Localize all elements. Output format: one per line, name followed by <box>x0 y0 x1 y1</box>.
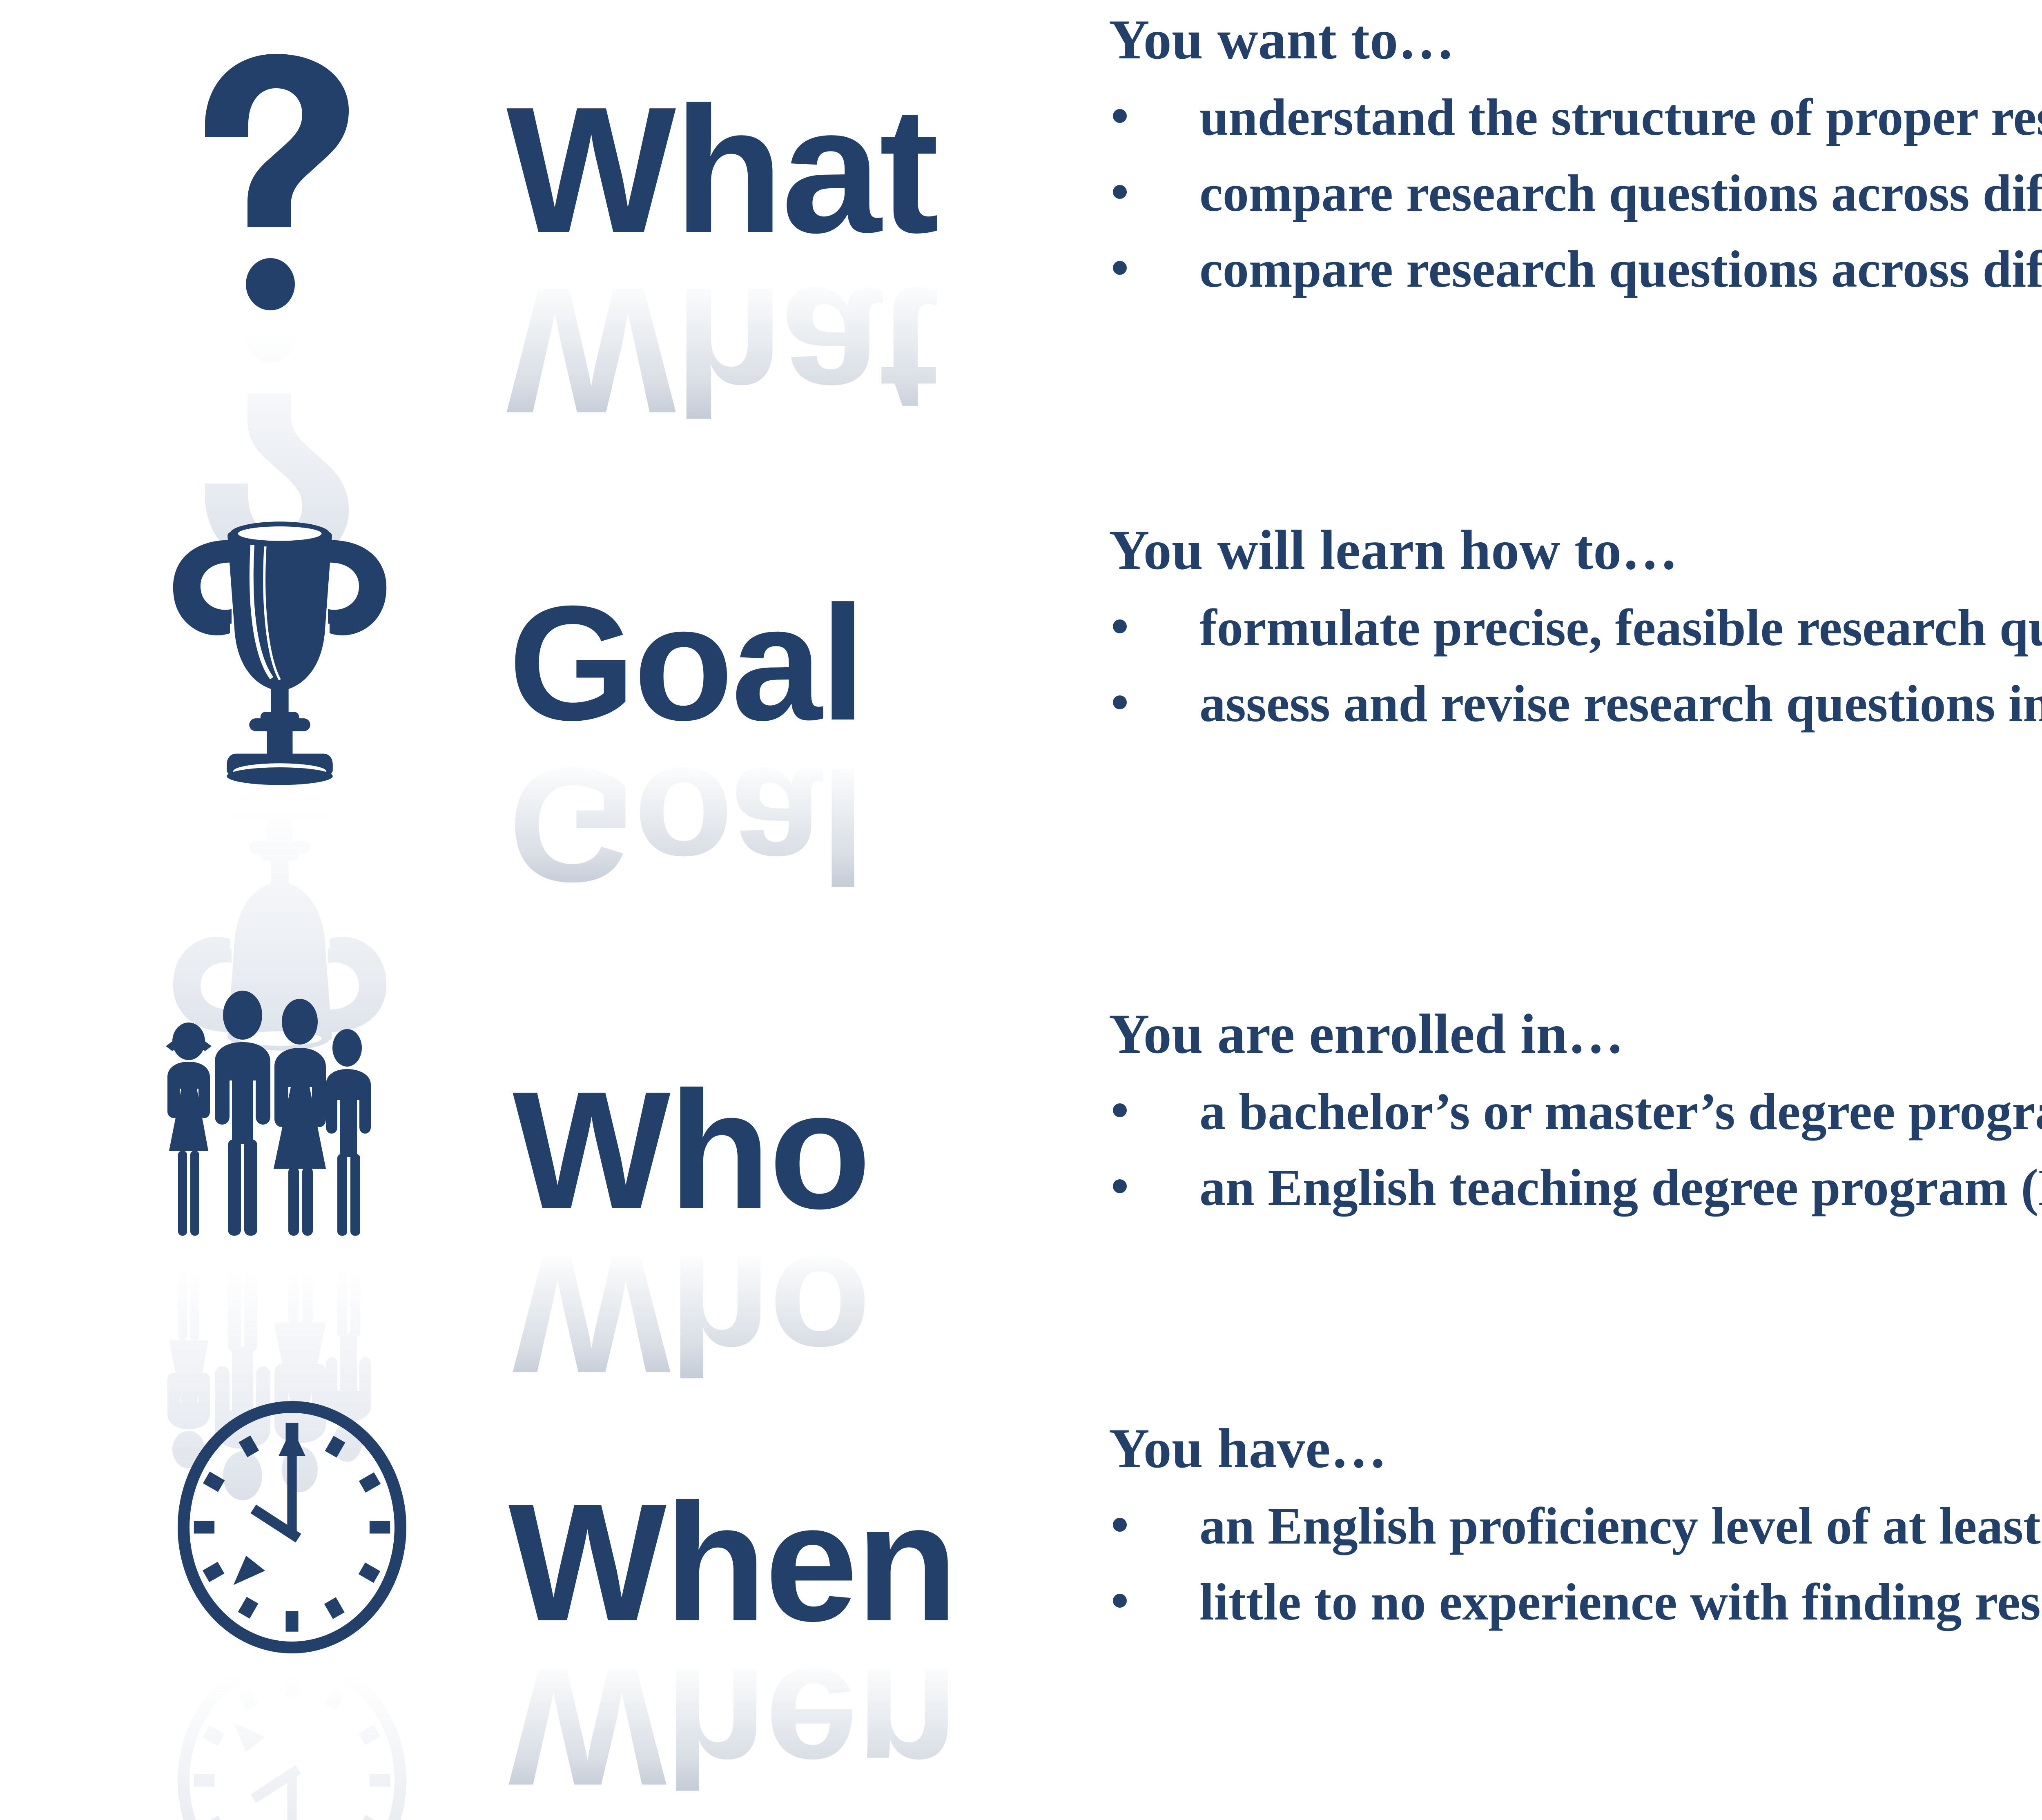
list-item: little to no experience with finding res… <box>1109 1571 2042 1633</box>
section-what-text: You want to… understand the structure of… <box>1109 8 2042 300</box>
section-when: When When You have… an English proficien… <box>0 1397 2042 1820</box>
section-what: What What You want to… understand the st… <box>0 0 2042 474</box>
bullet-dot-icon <box>1113 1103 1127 1117</box>
trophy-icon <box>159 512 400 786</box>
section-goal: Goal Goal You will learn how to… formula… <box>0 474 2042 947</box>
section-who-visual: Who Who <box>0 947 1078 1397</box>
list-item: assess and revise research questions in … <box>1109 673 2042 735</box>
list-item: understand the structure of proper resea… <box>1109 86 2042 148</box>
section-goal-text: You will learn how to… formulate precise… <box>1109 519 2042 735</box>
lead-line-who: You are enrolled in… <box>1109 1002 2042 1066</box>
section-what-visual: What What <box>0 0 1078 474</box>
section-word-when-reflection: When <box>508 1650 956 1804</box>
list-item-label: an English teaching degree program (L1, … <box>1199 1158 2042 1216</box>
bullet-dot-icon <box>1113 619 1127 633</box>
bullet-dot-icon <box>1113 185 1127 199</box>
clock-icon <box>172 1401 412 1654</box>
list-item: a bachelor’s or master’s degree program … <box>1109 1080 2042 1143</box>
bullet-dot-icon <box>1113 261 1127 275</box>
section-word-when: When <box>508 1486 956 1640</box>
bullet-list-goal: formulate precise, feasible research que… <box>1109 597 2042 735</box>
bullet-dot-icon <box>1113 1518 1127 1532</box>
list-item-label: compare research questions across differ… <box>1199 164 2042 222</box>
section-word-who-reflection: Who <box>513 1238 869 1392</box>
list-item-label: compare research questions across differ… <box>1199 240 2042 298</box>
section-word-what-reflection: What <box>506 267 937 433</box>
section-word-goal: Goal <box>508 588 864 738</box>
bullet-list-when: an English proficiency level of at least… <box>1109 1495 2042 1633</box>
list-item: compare research questions across differ… <box>1109 162 2042 224</box>
list-item-label: assess and revise research questions in … <box>1199 675 2042 733</box>
bullet-dot-icon <box>1113 109 1127 123</box>
slide-canvas: What What You want to… understand the st… <box>0 0 2042 1820</box>
section-word-who: Who <box>513 1073 869 1227</box>
list-item-label: understand the structure of proper resea… <box>1199 88 2042 146</box>
list-item-label: a bachelor’s or master’s degree program … <box>1199 1083 2042 1141</box>
section-who-text: You are enrolled in… a bachelor’s or mas… <box>1109 1002 2042 1219</box>
list-item: an English teaching degree program (L1, … <box>1109 1156 2042 1219</box>
list-item-label: formulate precise, feasible research que… <box>1199 599 2042 657</box>
section-when-text: You have… an English proficiency level o… <box>1109 1417 2042 1633</box>
list-item: an English proficiency level of at least… <box>1109 1495 2042 1557</box>
bullet-list-who: a bachelor’s or master’s degree program … <box>1109 1080 2042 1219</box>
lead-line-when: You have… <box>1109 1417 2042 1480</box>
section-goal-visual: Goal Goal <box>0 474 1078 947</box>
question-mark-icon <box>192 49 363 310</box>
section-word-goal-reflection: Goal <box>508 750 864 900</box>
lead-line-what: You want to… <box>1109 8 2042 71</box>
list-item-label: an English proficiency level of at least… <box>1199 1497 2042 1555</box>
bullet-dot-icon <box>1113 695 1127 709</box>
clock-icon-reflection <box>172 1654 412 1820</box>
bullet-list-what: understand the structure of proper resea… <box>1109 86 2042 301</box>
bullet-dot-icon <box>1113 1179 1127 1193</box>
family-group-icon <box>151 984 478 1245</box>
list-item: formulate precise, feasible research que… <box>1109 597 2042 659</box>
lead-line-goal: You will learn how to… <box>1109 519 2042 582</box>
list-item-label: little to no experience with finding res… <box>1199 1573 2042 1631</box>
list-item: compare research questions across differ… <box>1109 238 2042 300</box>
bullet-dot-icon <box>1113 1594 1127 1608</box>
section-word-what: What <box>506 88 937 253</box>
section-who: Who Who You are enrolled in… a bachelor’… <box>0 947 2042 1397</box>
section-when-visual: When When <box>0 1397 1078 1820</box>
